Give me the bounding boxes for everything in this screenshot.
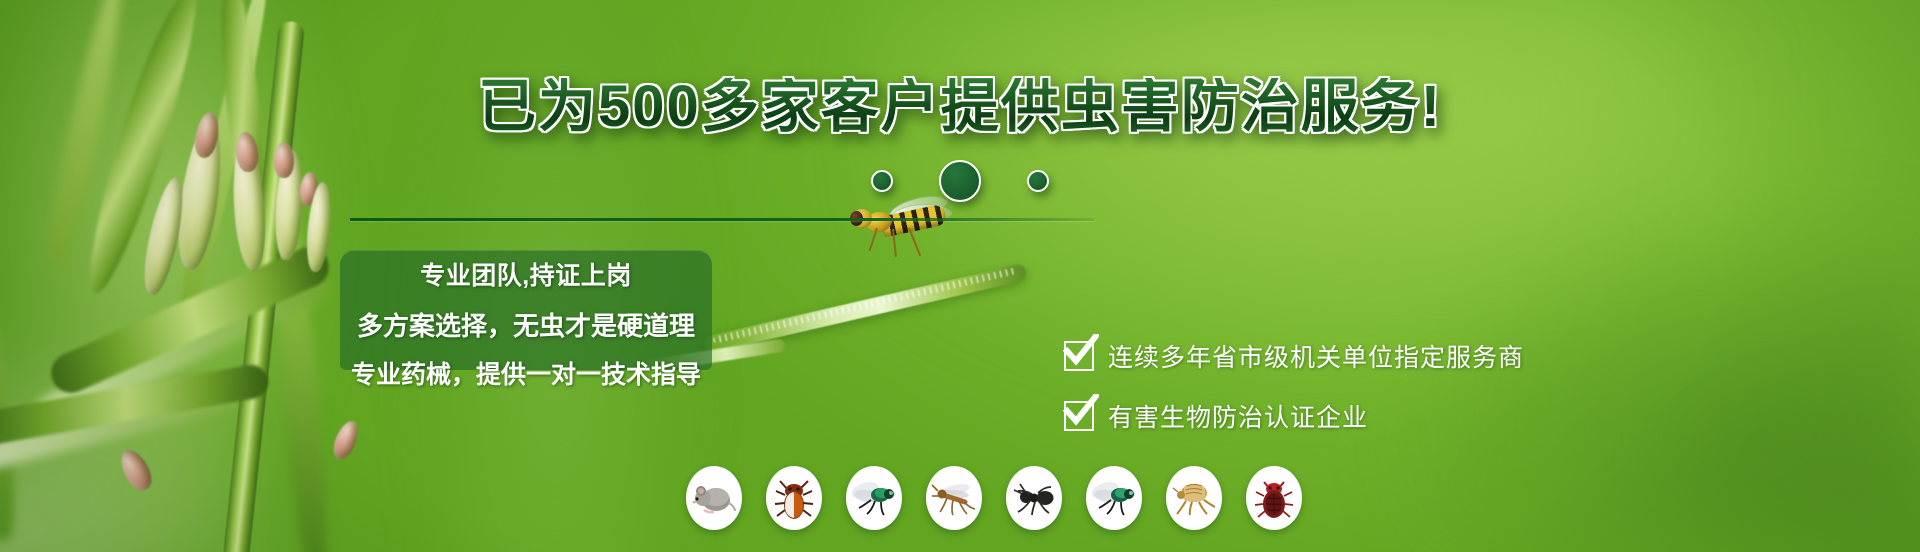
promotional-banner: 已为500多家客户提供虫害防治服务! 专业团队,持证上岗 多方案选择，无虫才是硬…	[0, 0, 1920, 552]
fly-icon[interactable]	[846, 466, 902, 530]
pest-icon-row	[686, 466, 1302, 530]
list-item: 连续多年省市级机关单位指定服务商	[1064, 338, 1524, 374]
mosquito-icon[interactable]	[926, 466, 982, 530]
divider	[350, 218, 1094, 221]
slogan-line-3: 专业药械，提供一对一技术指导	[351, 355, 701, 391]
slogan-line-1: 专业团队,持证上岗	[420, 256, 631, 292]
slogan-panel-text: 专业团队,持证上岗 多方案选择，无虫才是硬道理 专业药械，提供一对一技术指导	[340, 246, 712, 391]
bedbug-icon[interactable]	[1246, 466, 1302, 530]
page-title: 已为500多家客户提供虫害防治服务!	[0, 78, 1920, 136]
decor-dot-large-icon	[939, 160, 981, 202]
slogan-line-2: 多方案选择，无虫才是硬道理	[357, 306, 695, 343]
flea-icon[interactable]	[1166, 466, 1222, 530]
decorative-dots	[0, 160, 1920, 202]
mouse-icon[interactable]	[686, 466, 742, 530]
list-item: 有害生物防治认证企业	[1064, 398, 1524, 434]
cockroach-icon[interactable]	[766, 466, 822, 530]
decor-dot-small-icon	[871, 170, 893, 192]
decor-dot-small-icon	[1027, 170, 1049, 192]
checkbox-checked-icon	[1064, 401, 1094, 431]
checkbox-checked-icon	[1064, 341, 1094, 371]
list-item-label: 连续多年省市级机关单位指定服务商	[1108, 338, 1524, 374]
feature-list: 连续多年省市级机关单位指定服务商 有害生物防治认证企业	[1064, 338, 1524, 434]
ant-icon[interactable]	[1006, 466, 1062, 530]
blowfly-icon[interactable]	[1086, 466, 1142, 530]
list-item-label: 有害生物防治认证企业	[1108, 398, 1368, 434]
